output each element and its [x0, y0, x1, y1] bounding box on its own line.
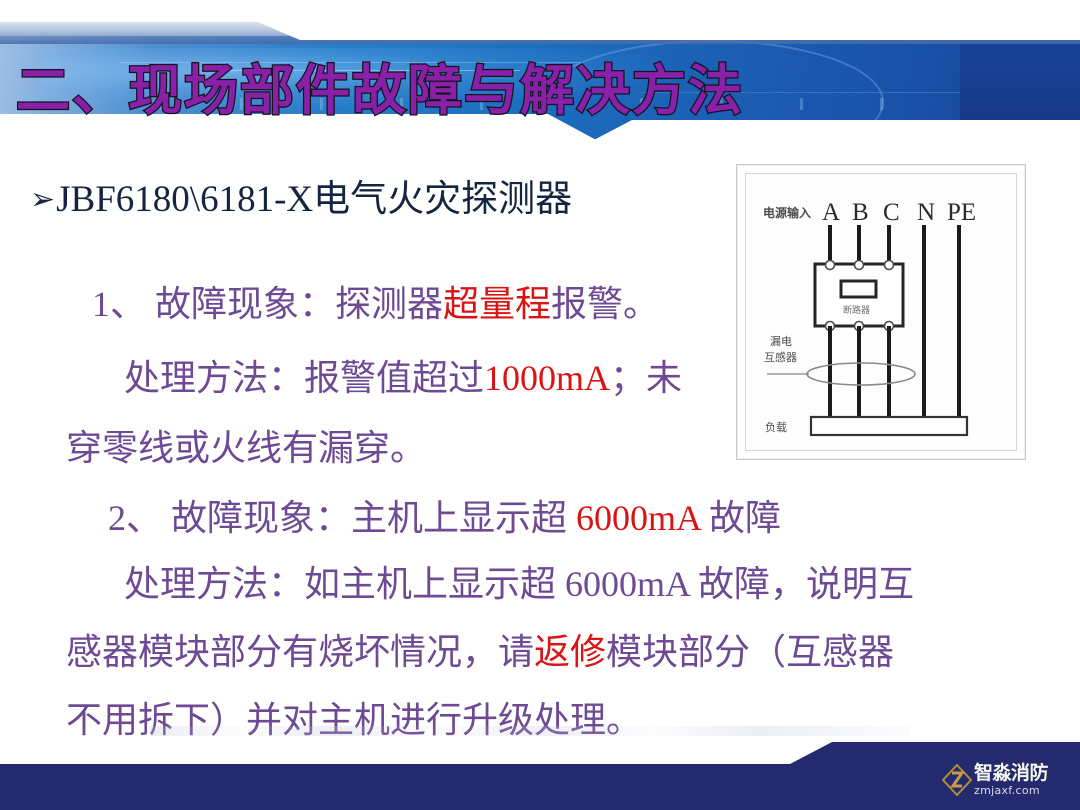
bullet-heading-text: JBF6180\6181-X电气火灾探测器	[56, 179, 572, 220]
fault-2-solution-line-2-prefix: 感器模块部分有烧坏情况，请	[66, 632, 534, 672]
fault-2-solution-line-3-text: 不用拆下）并对主机进行升级处理。	[66, 700, 642, 740]
fault-1-solution-suffix: ；未	[610, 358, 682, 398]
fault-2-solution-line-1: 处理方法：如主机上显示超 6000mA 故障，说明互	[124, 564, 914, 604]
fault-1-solution-highlight: 1000mA	[484, 358, 610, 398]
fault-1-phenomenon-line: 1、 故障现象：探测器超量程报警。	[92, 284, 659, 324]
slide-footer	[0, 742, 1080, 810]
header-bottom-mask	[0, 142, 1080, 156]
diagram-load-label: 负载	[765, 420, 787, 434]
fault-2-solution-line-2-suffix: 模块部分（互感器	[606, 632, 894, 672]
watermark-brand: 智淼消防	[974, 764, 1048, 783]
fault-1-solution-line-2: 穿零线或火线有漏穿。	[66, 428, 426, 468]
fault-2-solution-line-3: 不用拆下）并对主机进行升级处理。	[66, 700, 642, 740]
wiring-diagram: 电源输入 A B C N PE 断路器	[736, 164, 1026, 460]
fault-1-phenomenon-suffix: 报警。	[551, 284, 659, 324]
fault-1-solution-line-1: 处理方法：报警值超过1000mA；未	[124, 358, 682, 398]
page-title: 二、现场部件故障与解决方法	[16, 60, 744, 122]
diagram-terminal-label-C: C	[883, 199, 900, 226]
fault-2-solution-line-2: 感器模块部分有烧坏情况，请返修模块部分（互感器	[66, 632, 894, 672]
fault-2-phenomenon-highlight: 6000mA	[576, 498, 700, 538]
slide-canvas: 二、现场部件故障与解决方法 ➢JBF6180\6181-X电气火灾探测器 1、 …	[0, 0, 1080, 810]
slide-header: 二、现场部件故障与解决方法	[0, 0, 1080, 152]
fault-1-solution-line-2-text: 穿零线或火线有漏穿。	[66, 428, 426, 468]
fault-1-phenomenon-highlight: 超量程	[443, 284, 551, 324]
fault-2-solution-highlight: 返修	[534, 632, 606, 672]
diagram-ct-label-line2: 互感器	[764, 351, 797, 364]
bullet-heading: ➢JBF6180\6181-X电气火灾探测器	[30, 178, 572, 222]
diagram-breaker-label: 断路器	[843, 304, 870, 316]
wiring-diagram-svg: 电源输入 A B C N PE 断路器	[737, 165, 1025, 459]
fault-2-phenomenon-line: 2、 故障现象：主机上显示超 6000mA 故障	[108, 498, 781, 538]
header-right-block	[960, 36, 1080, 122]
fault-2-phenomenon-prefix: 2、 故障现象：主机上显示超	[108, 498, 576, 538]
diagram-terminal-label-B: B	[852, 199, 869, 226]
bullet-arrow-icon: ➢	[30, 182, 55, 217]
diagram-terminal-dot	[855, 261, 864, 270]
diagram-terminal-label-A: A	[822, 199, 840, 226]
diagram-ct-label-line1: 漏电	[770, 335, 792, 348]
watermark-url: zmjaxf.com	[974, 785, 1048, 796]
fault-2-phenomenon-suffix: 故障	[700, 498, 781, 538]
brand-emblem-icon	[942, 764, 972, 796]
fault-1-solution-prefix: 处理方法：报警值超过	[124, 358, 484, 398]
watermark: 智淼消防 zmjaxf.com	[942, 758, 1072, 802]
fault-2-solution-line-1-text: 处理方法：如主机上显示超 6000mA 故障，说明互	[124, 564, 914, 604]
diagram-terminal-label-PE: PE	[947, 199, 976, 226]
diagram-power-input-label: 电源输入	[763, 205, 811, 220]
diagram-terminal-dot	[885, 261, 894, 270]
diagram-terminal-dot	[826, 261, 835, 270]
diagram-terminal-label-N: N	[917, 199, 935, 226]
fault-1-phenomenon-prefix: 1、 故障现象：探测器	[92, 284, 443, 324]
diagram-breaker-switch	[841, 281, 876, 297]
watermark-text-block: 智淼消防 zmjaxf.com	[974, 764, 1048, 796]
diagram-load-bar	[811, 417, 967, 435]
